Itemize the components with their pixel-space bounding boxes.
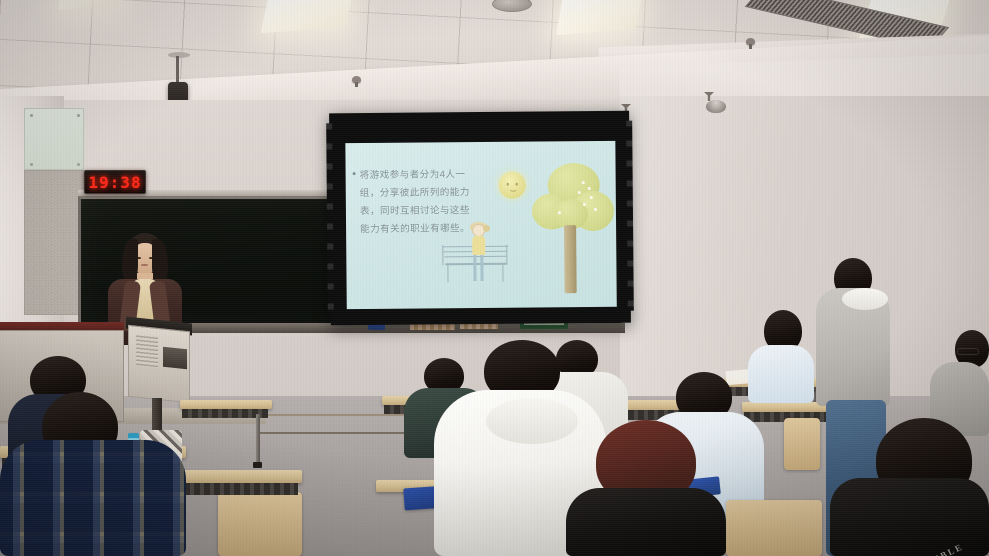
sprinkler-icon [746,38,755,45]
lectern-control-panel[interactable] [163,347,187,370]
desk-leg [256,414,260,464]
presenter-mouth [141,264,148,266]
chair [218,492,302,556]
sun-icon [499,172,526,199]
classroom-photo: 19:38 将游戏参与者分为4人一 组，分享彼此所列的能力 表，同时互相讨论与这… [0,0,989,556]
lectern-speaker-grille [136,335,158,367]
desk-foot [253,462,262,468]
girl-leg [473,255,476,281]
slide-line: 将游戏参与者分为4人一 [360,166,500,185]
bench-arm [506,245,508,265]
tree-highlight [582,181,585,184]
tree-highlight [558,211,561,214]
slide-content: 将游戏参与者分为4人一 组，分享彼此所列的能力 表，同时互相讨论与这些 能力有关… [345,141,616,309]
student-female-body [748,345,814,403]
student-leather-body: INFINITE POSSIBLE [830,478,989,556]
digital-wall-clock: 19:38 [84,170,146,194]
projection-screen: 将游戏参与者分为4人一 组，分享彼此所列的能力 表，同时互相讨论与这些 能力有关… [329,111,631,326]
sprinkler-icon [352,76,361,83]
girl-body [472,236,485,255]
hood-roll [486,398,578,444]
acoustic-wall-panel [24,170,84,315]
tree-highlight [594,208,597,211]
slide-line: 组，分享彼此所列的能力 [360,184,500,203]
sun-eye [516,183,518,186]
bench-leg [502,264,504,282]
glasses-icon [957,348,979,355]
student-plaid-body [0,440,186,556]
tree-icon [528,163,615,296]
slide-line: 表，同时互相讨论与这些 [360,202,500,221]
presenter-hair-left [122,239,138,283]
clock-time-display: 19:38 [88,173,141,192]
sun-eye [507,183,509,186]
girl-hair-bun [483,225,490,232]
tree-highlight [588,187,591,190]
student-red-hair-jacket [566,488,726,556]
tree-highlight [578,191,581,194]
chair [784,418,820,470]
panel-screw [30,163,33,166]
panel-screw [77,163,80,166]
bench-leg [447,264,449,282]
ceiling-light-panel-icon [556,0,644,35]
bench-arm [442,245,444,265]
panel-screw [30,114,33,117]
panel-screw [77,114,80,117]
dome-camera-icon [706,100,726,113]
tree-highlight [590,196,593,199]
slide-bullet-icon [353,172,356,175]
projector-mount-plate [168,52,190,58]
wall-panel-upper [24,108,84,170]
tree-trunk [564,225,577,293]
girl-leg [480,255,483,281]
jacket-print-text: INFINITE POSSIBLE [851,546,954,556]
hood-roll [842,288,888,310]
tree-highlight [583,203,586,206]
girl-sitting-icon [468,224,491,282]
sun-mouth [510,188,517,192]
chair [726,500,822,556]
desk [180,400,272,409]
